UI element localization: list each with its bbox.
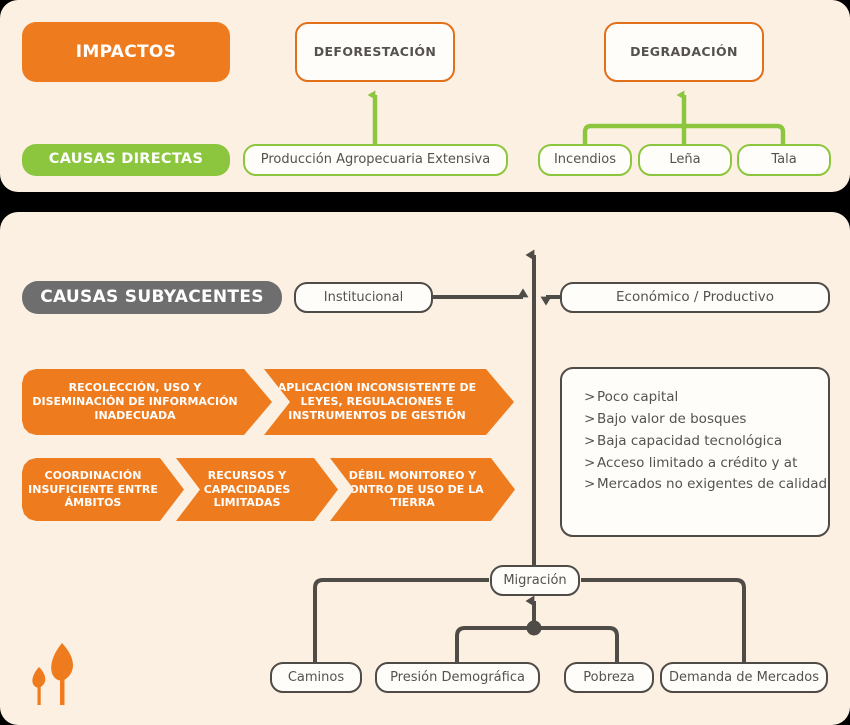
- node-presion-demografica[interactable]: Presión Demográfica: [375, 662, 540, 693]
- node-produccion-agropecuaria[interactable]: Producción Agropecuaria Extensiva: [243, 144, 508, 176]
- label-causas-directas: CAUSAS DIRECTAS: [22, 144, 230, 176]
- cause-recursos-capacidades[interactable]: RECURSOS Y CAPACIDADES LIMITADAS: [176, 458, 338, 521]
- bullet-gt: >: [584, 453, 597, 475]
- label-impactos: IMPACTOS: [22, 22, 230, 82]
- bullet-gt: >: [584, 387, 597, 409]
- list-item: >Poco capital: [584, 387, 828, 409]
- node-demanda-mercados[interactable]: Demanda de Mercados: [660, 662, 828, 693]
- cause-debil-monitoreo[interactable]: DÉBIL MONITOREO Y CONTRO DE USO DE LA TI…: [330, 458, 515, 521]
- list-item: >Acceso limitado a crédito y at: [584, 453, 828, 475]
- list-item: >Baja capacidad tecnológica: [584, 431, 828, 453]
- bullet-gt: >: [584, 409, 597, 431]
- node-incendios[interactable]: Incendios: [538, 144, 632, 176]
- node-caminos[interactable]: Caminos: [270, 662, 362, 693]
- label-causas-subyacentes: CAUSAS SUBYACENTES: [22, 281, 282, 314]
- economic-factors-list: >Poco capital >Bajo valor de bosques >Ba…: [560, 367, 830, 537]
- tree-logo-icon: [22, 640, 84, 710]
- node-lena[interactable]: Leña: [638, 144, 732, 176]
- bullet-gt: >: [584, 431, 597, 453]
- diagram-canvas: IMPACTOS DEFORESTACIÓN DEGRADACIÓN CAUSA…: [0, 0, 850, 725]
- node-economico-productivo[interactable]: Económico / Productivo: [560, 282, 830, 313]
- cause-coordinacion-insuficiente[interactable]: COORDINACIÓN INSUFICIENTE ENTRE ÁMBITOS: [22, 458, 184, 521]
- list-item: >Mercados no exigentes de calidad: [584, 474, 828, 496]
- node-degradacion[interactable]: DEGRADACIÓN: [604, 22, 764, 82]
- bullet-gt: >: [584, 474, 597, 496]
- node-migracion[interactable]: Migración: [490, 565, 580, 596]
- node-pobreza[interactable]: Pobreza: [564, 662, 654, 693]
- cause-aplicacion-inconsistente[interactable]: APLICACIÓN INCONSISTENTE DE LEYES, REGUL…: [264, 369, 514, 435]
- cause-recoleccion-informacion[interactable]: RECOLECCIÓN, USO Y DISEMINACIÓN DE INFOR…: [22, 369, 272, 435]
- node-tala[interactable]: Tala: [737, 144, 831, 176]
- list-item: >Bajo valor de bosques: [584, 409, 828, 431]
- node-institucional[interactable]: Institucional: [294, 282, 433, 313]
- node-deforestacion[interactable]: DEFORESTACIÓN: [295, 22, 455, 82]
